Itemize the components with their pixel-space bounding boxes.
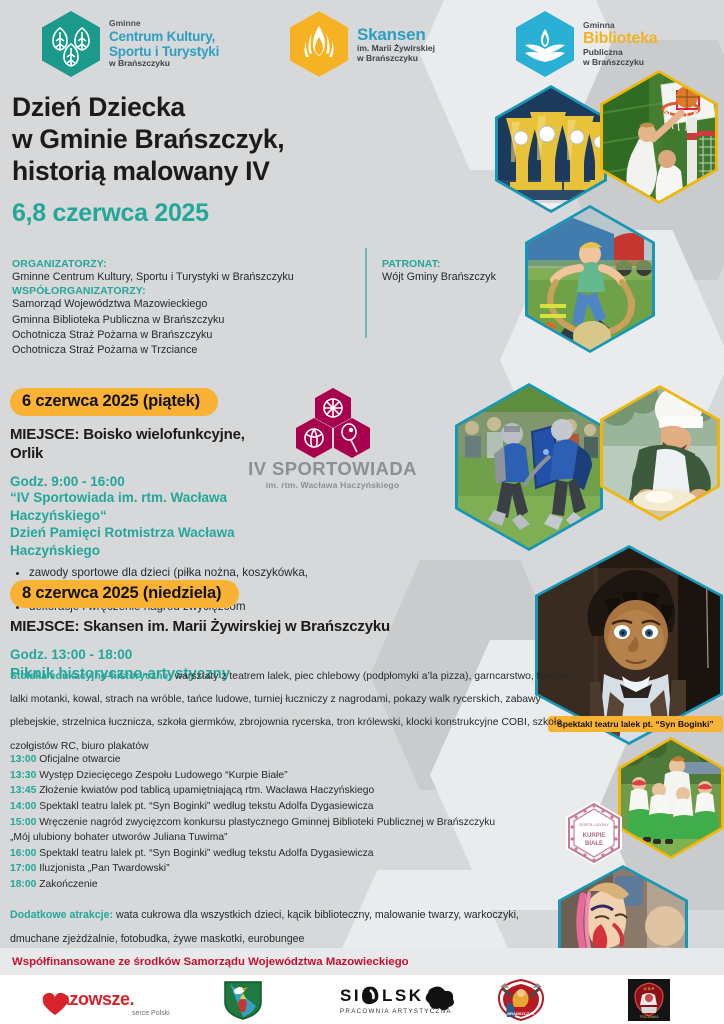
- photo-baker: [600, 385, 720, 521]
- stands-text: warsztaty z teatrem lalek, piec chlebowy…: [10, 671, 575, 752]
- title-line-3: historią malowany IV: [12, 156, 402, 188]
- patronage-value: Wójt Gminy Brańszczyk: [382, 270, 562, 285]
- sportowiada-subtitle: im. rtm. Wacława Haczyńskiego: [240, 480, 425, 490]
- mazowsze-logo: azowsze. serce Polski: [38, 983, 188, 1017]
- gckst-logo: Gminne Centrum Kultury, Sportu i Turysty…: [42, 11, 219, 77]
- gckst-line1: Gminne: [109, 19, 219, 29]
- schedule-row: 15:00 Wręczenie nagród zwycięzcom konkur…: [10, 815, 578, 831]
- coorganizer-1: Samorząd Województwa Mazowieckiego: [12, 297, 357, 312]
- header-logos: Gminne Centrum Kultury, Sportu i Turysty…: [0, 0, 724, 88]
- schedule-time: 13:00: [10, 754, 36, 765]
- cofinance-text: Współfinansowane ze środków Samorządu Wo…: [12, 956, 409, 968]
- gmina-branszczyk-coat-of-arms: [222, 980, 264, 1020]
- extras-label: Dodatkowe atrakcje:: [10, 909, 113, 921]
- day1-date-pill: 6 czerwca 2025 (piątek): [10, 388, 218, 416]
- open-book-hexagon-icon: [516, 11, 574, 77]
- svg-text:KURPIE: KURPIE: [583, 833, 606, 839]
- day2-place: MIEJSCE: Skansen im. Marii Żywirskiej w …: [10, 617, 480, 636]
- schedule-time: 13:45: [10, 785, 36, 796]
- vertical-divider: [365, 248, 367, 338]
- schedule-time: 15:00: [10, 817, 36, 828]
- schedule-row: 16:00 Spektakl teatru lalek pt. “Syn Bog…: [10, 846, 578, 862]
- sportowiada-logo: IV SPORTOWIADA im. rtm. Wacława Haczyńsk…: [240, 386, 425, 490]
- schedule-text: Spektakl teatru lalek pt. “Syn Boginki” …: [39, 801, 373, 812]
- cofinance-bar: Współfinansowane ze środków Samorządu Wo…: [0, 948, 724, 975]
- sportowiada-name: IV SPORTOWIADA: [240, 458, 425, 480]
- title-line-2-suffix: ,: [277, 124, 284, 154]
- photo-trophies: [495, 85, 607, 213]
- schedule-time: 13:30: [10, 770, 36, 781]
- schedule-text: Zakończenie: [39, 879, 97, 890]
- title-line-1: Dzień Dziecka: [12, 92, 402, 124]
- schedule-row: 14:00 Spektakl teatru lalek pt. “Syn Bog…: [10, 799, 578, 815]
- schedule-continuation: „Mój ulubiony bohater utworów Juliana Tu…: [10, 830, 578, 846]
- schedule-time: 14:00: [10, 801, 36, 812]
- schedule-row: 13:45 Złożenie kwiatów pod tablicą upami…: [10, 783, 578, 799]
- schedule-text: Spektakl teatru lalek pt. “Syn Boginki” …: [39, 848, 373, 859]
- photo-folk-group: [618, 737, 724, 859]
- organizers-heading: ORGANIZATORZY:: [12, 258, 357, 270]
- stands-paragraph: Stoiska edukacyjno-historyczne: warsztat…: [10, 663, 575, 756]
- svg-text:O S P: O S P: [644, 986, 655, 991]
- osp-branszczyk-logo: BRAŃSZCZYK: [495, 979, 547, 1021]
- schedule-list: 13:00 Oficjalne otwarcie 13:30 Występ Dz…: [10, 752, 578, 893]
- gckst-line3: Sportu i Turystyki: [109, 44, 219, 59]
- svg-text:azowsze.: azowsze.: [60, 989, 134, 1009]
- organizer-main: Gminne Centrum Kultury, Sportu i Turysty…: [12, 270, 357, 285]
- sielsko-logo: SI LSK PRACOWNIA ARTYSTYCZNA: [340, 983, 520, 1017]
- schedule-text: Iluzjonista „Pan Twardowski”: [39, 863, 169, 874]
- biblioteka-line2: Biblioteka: [583, 30, 657, 48]
- gckst-line2: Centrum Kultury,: [109, 29, 219, 44]
- biblioteka-logo: Gminna Biblioteka Publiczna w Brańszczyk…: [516, 11, 657, 77]
- schedule-row: 18:00 Zakończenie: [10, 877, 578, 893]
- biblioteka-line4: w Brańszczyku: [583, 58, 657, 68]
- gckst-line4: w Brańszczyku: [109, 59, 219, 69]
- day2-date-pill: 8 czerwca 2025 (niedziela): [10, 580, 239, 608]
- page-title: Dzień Dziecka w Gminie Brańszczyk, histo…: [12, 92, 402, 228]
- coorganizer-3: Ochotnicza Straż Pożarna w Brańszczyku: [12, 328, 357, 343]
- schedule-time: 17:00: [10, 863, 36, 874]
- osp-trzcianka-logo: O S P TRZCIANKA: [628, 979, 670, 1021]
- flame-hexagon-icon: [290, 11, 348, 77]
- svg-text:ZESPÓŁ LUDOWY: ZESPÓŁ LUDOWY: [579, 822, 609, 827]
- day2-hours: Godz. 13:00 - 18:00: [10, 647, 480, 662]
- svg-text:LSK: LSK: [382, 986, 424, 1005]
- photo-basketball: [600, 70, 718, 204]
- skansen-line4: w Brańszczyku: [357, 54, 435, 64]
- photo-knights: [455, 383, 603, 551]
- title-line-2: w Gminie Brańszczyk: [12, 124, 277, 154]
- schedule-text: Złożenie kwiatów pod tablicą upamiętniaj…: [39, 785, 374, 796]
- coorganizer-2: Gminna Biblioteka Publiczna w Brańszczyk…: [12, 313, 357, 328]
- svg-text:TRZCIANKA: TRZCIANKA: [639, 1015, 659, 1019]
- schedule-text: Oficjalne otwarcie: [39, 754, 120, 765]
- organizers-block: ORGANIZATORZY: Gminne Centrum Kultury, S…: [12, 258, 357, 359]
- schedule-time: 16:00: [10, 848, 36, 859]
- schedule-text: Wręczenie nagród zwycięzcom konkursu pla…: [39, 817, 495, 828]
- schedule-row: 13:00 Oficjalne otwarcie: [10, 752, 578, 768]
- footer-logos: azowsze. serce Polski SI LSK PRACOWNI: [0, 975, 724, 1024]
- day1-title-quote: “IV Sportowiada im. rtm. Wacława Haczyńs…: [10, 489, 310, 524]
- extras-paragraph: Dodatkowe atrakcje: wata cukrowa dla wsz…: [10, 902, 555, 949]
- svg-text:BIAŁE: BIAŁE: [585, 841, 603, 847]
- svg-text:PRACOWNIA ARTYSTYCZNA: PRACOWNIA ARTYSTYCZNA: [340, 1008, 452, 1015]
- stands-label: Stoiska edukacyjno-historyczne:: [10, 671, 172, 682]
- title-date: 6,8 czerwca 2025: [12, 199, 402, 228]
- poster-root: Spektakl teatru lalek pt. “Syn Boginki”: [0, 0, 724, 1024]
- patronage-heading: PATRONAT:: [382, 258, 562, 270]
- svg-text:SI: SI: [340, 986, 361, 1005]
- schedule-time: 18:00: [10, 879, 36, 890]
- schedule-row: 17:00 Iluzjonista „Pan Twardowski”: [10, 861, 578, 877]
- day1-subtitle: Dzień Pamięci Rotmistrza Wacława Haczyńs…: [10, 524, 310, 559]
- coorganizers-heading: WSPÓŁORGANIZATORZY:: [12, 285, 357, 297]
- three-leaves-hexagon-icon: [42, 11, 100, 77]
- skansen-logo: Skansen im. Marii Żywirskiej w Brańszczy…: [290, 11, 435, 77]
- biblioteka-line1: Gminna: [583, 21, 657, 31]
- svg-text:serce Polski: serce Polski: [132, 1010, 170, 1017]
- schedule-text: Występ Dziecięcego Zespołu Ludowego “Kur…: [39, 770, 287, 781]
- coorganizer-4: Ochotnicza Straż Pożarna w Trzciance: [12, 343, 357, 358]
- svg-text:BRAŃSZCZYK: BRAŃSZCZYK: [507, 1011, 535, 1016]
- patronage-block: PATRONAT: Wójt Gminy Brańszczyk: [382, 258, 562, 285]
- skansen-line2: Skansen: [357, 25, 435, 44]
- schedule-row: 13:30 Występ Dziecięcego Zespołu Ludoweg…: [10, 768, 578, 784]
